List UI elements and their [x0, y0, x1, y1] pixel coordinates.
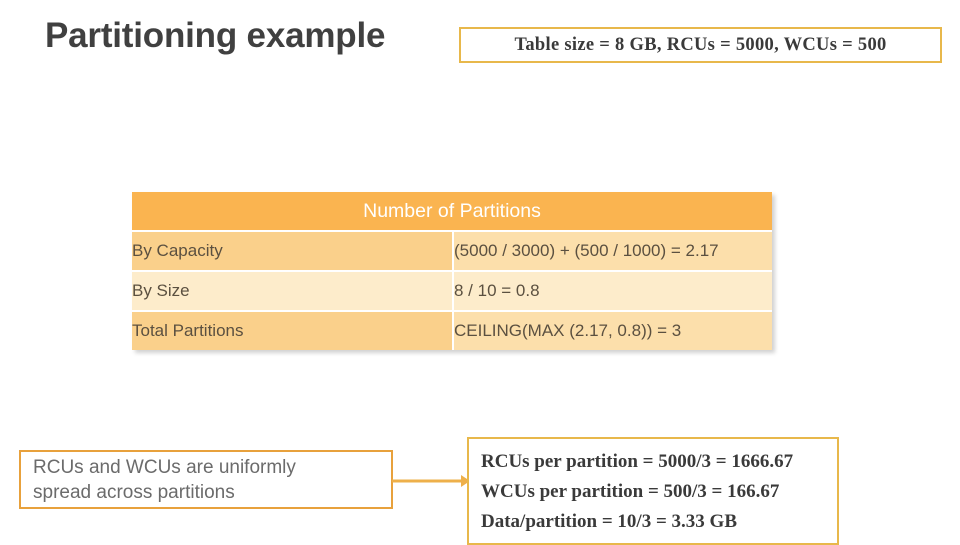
table-row: By Size 8 / 10 = 0.8: [132, 270, 772, 310]
table-cell-label: By Capacity: [132, 230, 452, 270]
per-partition-formula-box: RCUs per partition = 5000/3 = 1666.67 WC…: [467, 437, 839, 545]
table-parameters-box: Table size = 8 GB, RCUs = 5000, WCUs = 5…: [459, 27, 942, 63]
note-line-1: RCUs and WCUs are uniformly: [33, 455, 391, 480]
formula-line-wcus: WCUs per partition = 500/3 = 166.67: [481, 477, 837, 507]
table-row: By Capacity (5000 / 3000) + (500 / 1000)…: [132, 230, 772, 270]
table-cell-value: (5000 / 3000) + (500 / 1000) = 2.17: [452, 230, 772, 270]
note-line-2: spread across partitions: [33, 480, 391, 505]
formula-line-rcus: RCUs per partition = 5000/3 = 1666.67: [481, 447, 837, 477]
table-cell-value: CEILING(MAX (2.17, 0.8)) = 3: [452, 310, 772, 350]
partitions-table: Number of Partitions By Capacity (5000 /…: [132, 192, 772, 350]
table-cell-value: 8 / 10 = 0.8: [452, 270, 772, 310]
table-header-row: Number of Partitions: [132, 192, 772, 230]
table-cell-label: Total Partitions: [132, 310, 452, 350]
table-header-cell: Number of Partitions: [132, 192, 772, 230]
uniform-spread-note-box: RCUs and WCUs are uniformly spread acros…: [19, 450, 393, 509]
table-row: Total Partitions CEILING(MAX (2.17, 0.8)…: [132, 310, 772, 350]
table-cell-label: By Size: [132, 270, 452, 310]
formula-line-data: Data/partition = 10/3 = 3.33 GB: [481, 507, 837, 537]
table-body: By Capacity (5000 / 3000) + (500 / 1000)…: [132, 230, 772, 350]
slide-canvas: Partitioning example Table size = 8 GB, …: [0, 0, 960, 540]
table-head: Number of Partitions: [132, 192, 772, 230]
arrow-right-icon: [392, 468, 470, 494]
page-title: Partitioning example: [45, 16, 385, 56]
table-parameters-text: Table size = 8 GB, RCUs = 5000, WCUs = 5…: [514, 35, 886, 56]
